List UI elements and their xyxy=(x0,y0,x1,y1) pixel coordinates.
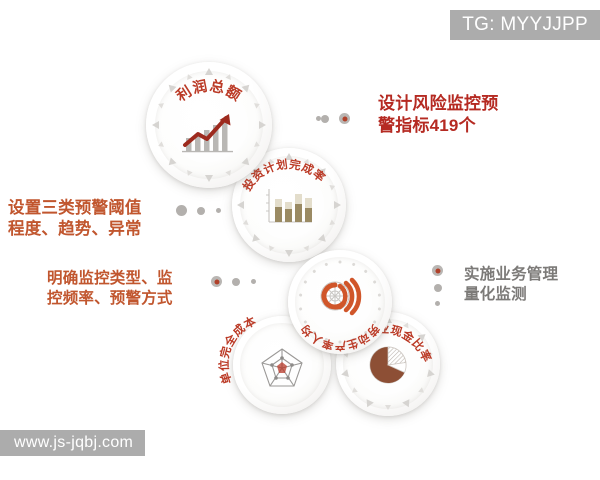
connector-dot xyxy=(216,208,221,213)
connector-dot xyxy=(435,301,440,306)
connector-dots-monitor-type xyxy=(211,276,256,287)
svg-text:劳动生产率人均: 劳动生产率人均 xyxy=(298,322,383,353)
plate-profit-total[interactable]: 利润总额 xyxy=(146,62,272,188)
infographic-canvas: 利润总额 投资计划完成率 xyxy=(0,0,600,480)
connector-dot xyxy=(321,115,329,123)
plate-label-text: 劳动生产率人均 xyxy=(298,322,383,353)
connector-dot xyxy=(251,279,256,284)
callout-three-thresholds: 设置三类预警阈值 程度、趋势、异常 xyxy=(8,198,178,241)
connector-dot xyxy=(211,276,222,287)
bar-chart-rising-arrow-icon xyxy=(176,107,242,157)
connector-dot xyxy=(339,113,350,124)
callout-business-quant: 实施业务管理 量化监测 xyxy=(464,265,594,305)
stacked-bar-chart-icon xyxy=(260,184,318,230)
connector-dots-design-risk xyxy=(316,113,359,124)
svg-text:利润总额: 利润总额 xyxy=(173,77,245,105)
plate-label-text: 单位完全成本 xyxy=(217,314,258,386)
plate-labor-productivity[interactable]: 劳动生产率人均 xyxy=(288,250,392,354)
connector-dots-business-quant xyxy=(432,265,443,306)
connector-dot xyxy=(197,207,205,215)
connector-dots-three-thresholds xyxy=(176,205,221,216)
website-watermark: www.js-jqbj.com xyxy=(0,430,145,456)
svg-text:单位完全成本: 单位完全成本 xyxy=(217,314,258,386)
callout-monitor-type: 明确监控类型、监 控频率、预警方式 xyxy=(47,269,207,309)
callout-design-risk: 设计风险监控预 警指标419个 xyxy=(378,93,548,137)
radar-signal-wave-icon xyxy=(314,272,366,322)
connector-dot xyxy=(232,278,240,286)
plate-label-text: 利润总额 xyxy=(173,77,245,105)
connector-dot xyxy=(434,284,442,292)
telegram-watermark: TG: MYYJJPP xyxy=(450,10,600,40)
connector-dot xyxy=(432,265,443,276)
